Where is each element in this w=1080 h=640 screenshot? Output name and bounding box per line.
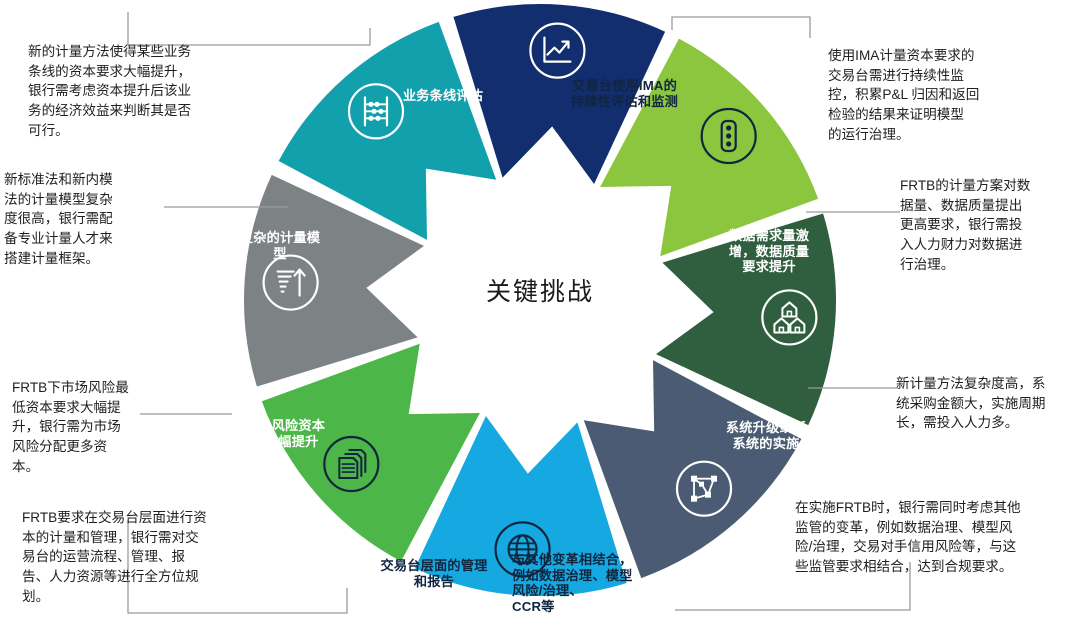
infographic-canvas: 关键挑战 业务条线评估 交易台使用IMA的 持续性评估和监测 数据需求量激 增，…: [0, 0, 1080, 640]
note-ima-desk-monitoring: 使用IMA计量资本要求的 交易台需进行持续性监 控，积累P&L 归因和返回 检验…: [828, 46, 1046, 145]
note-data-demand-quality: FRTB的计量方案对数 据量、数据质量提出 更高要求，银行需投 入人力财力对数据…: [900, 176, 1076, 275]
note-system-upgrade: 新计量方法复杂度高，系 统采购金额大，实施周期 长，需投入人力多。: [896, 374, 1072, 433]
note-market-risk-capital: FRTB下市场风险最 低资本要求大幅提 升，银行需为市场 风险分配更多资 本。: [12, 378, 178, 477]
center-title: 关键挑战: [420, 272, 660, 308]
note-combine-other-reforms: 在实施FRTB时，银行需同时考虑其他 监管的变革，例如数据治理、模型风 险/治理…: [795, 498, 1077, 577]
note-complex-models: 新标准法和新内模 法的计量模型复杂 度很高，银行需配 备专业计量人才来 搭建计量…: [4, 170, 172, 269]
note-desk-level-management: FRTB要求在交易台层面进行资 本的计量和管理，银行需对交 易台的运营流程、管理…: [22, 508, 262, 607]
note-business-line-assessment: 新的计量方法使得某些业务 条线的资本要求大幅提升， 银行需考虑资本提升后该业 务…: [28, 42, 260, 141]
